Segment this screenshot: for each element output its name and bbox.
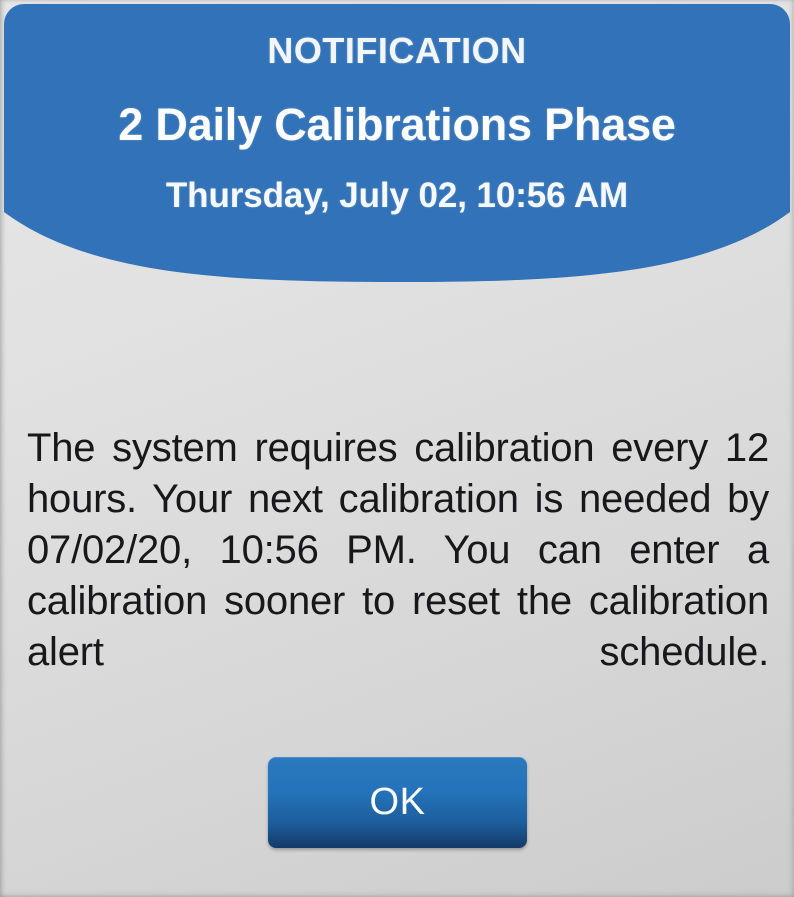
notification-kicker: NOTIFICATION — [4, 33, 790, 69]
dialog-header-banner: NOTIFICATION 2 Daily Calibrations Phase … — [4, 4, 790, 282]
ok-button[interactable]: OK — [268, 757, 527, 848]
dialog-title: 2 Daily Calibrations Phase — [4, 102, 790, 147]
dialog-timestamp: Thursday, July 02, 10:56 AM — [4, 178, 790, 213]
notification-dialog: NOTIFICATION 2 Daily Calibrations Phase … — [0, 0, 794, 897]
dialog-message: The system requires calibration every 12… — [27, 423, 769, 729]
header-text-group: NOTIFICATION 2 Daily Calibrations Phase … — [4, 4, 790, 213]
